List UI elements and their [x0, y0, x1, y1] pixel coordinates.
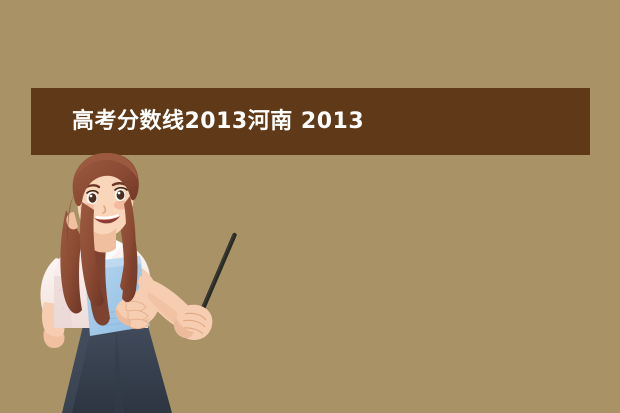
- teacher-illustration: [20, 150, 300, 413]
- page-title: 高考分数线2013河南 2013: [72, 111, 364, 133]
- page-canvas: 高考分数线2013河南 2013: [0, 0, 620, 413]
- illustration-figure: [41, 153, 235, 413]
- skirt: [62, 326, 172, 413]
- title-banner: 高考分数线2013河南 2013: [31, 88, 590, 155]
